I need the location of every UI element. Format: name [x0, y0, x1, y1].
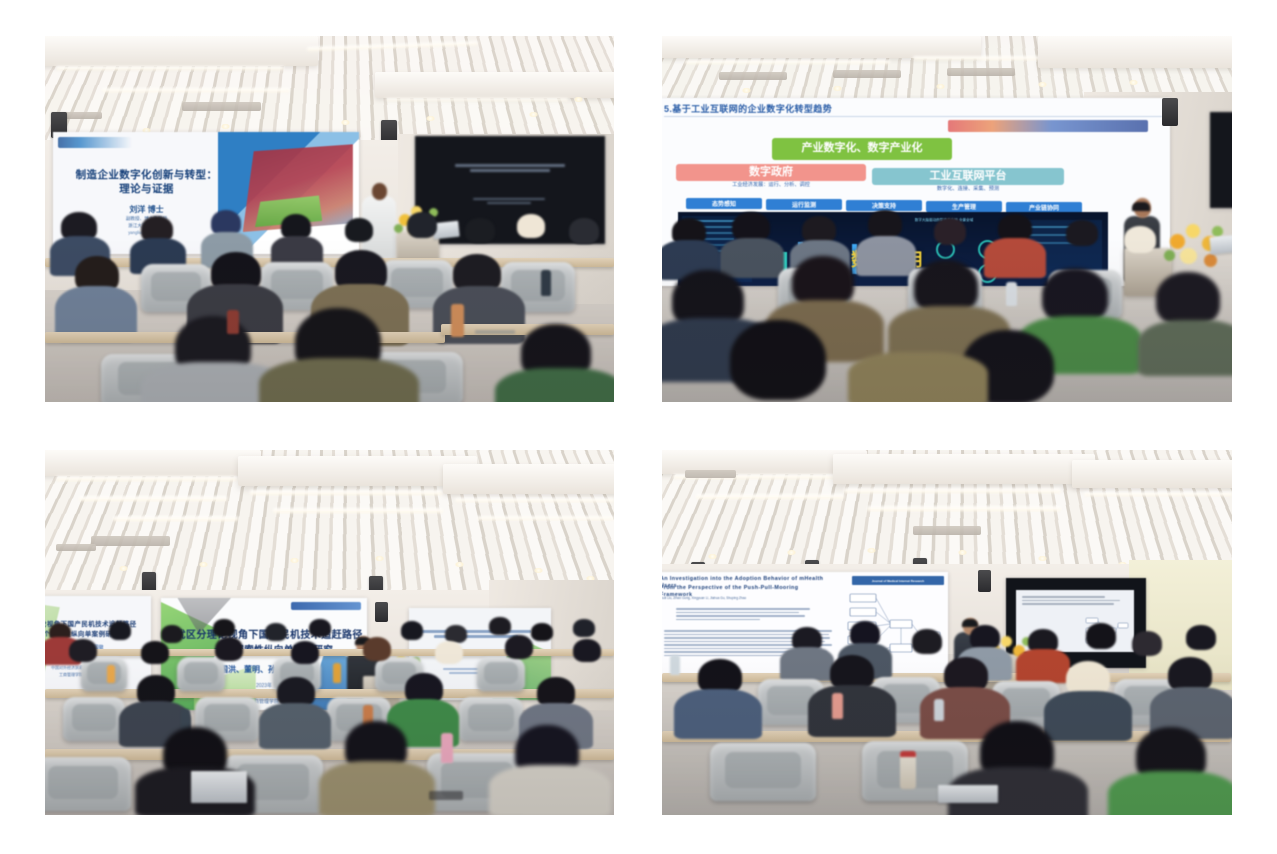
photo-bottom-left: 最优区分理论视角下国产民机技术追赶路径 ——一个探索性纵向单案例研究 谢国洪、董…	[45, 450, 614, 815]
photo-top-right: 5.基于工业互联网的企业数字化转型趋势 产业数字化、数字产业化 数字政府 工业经…	[662, 36, 1232, 402]
photo-grid-canvas: 制造企业数字化创新与转型： 理论与证据 刘洋 博士 副教授、博士生导师 浙江大学…	[0, 0, 1277, 854]
photo-bottom-right: An Investigation into the Adoption Behav…	[662, 450, 1232, 815]
photo-top-left: 制造企业数字化创新与转型： 理论与证据 刘洋 博士 副教授、博士生导师 浙江大学…	[45, 36, 614, 402]
